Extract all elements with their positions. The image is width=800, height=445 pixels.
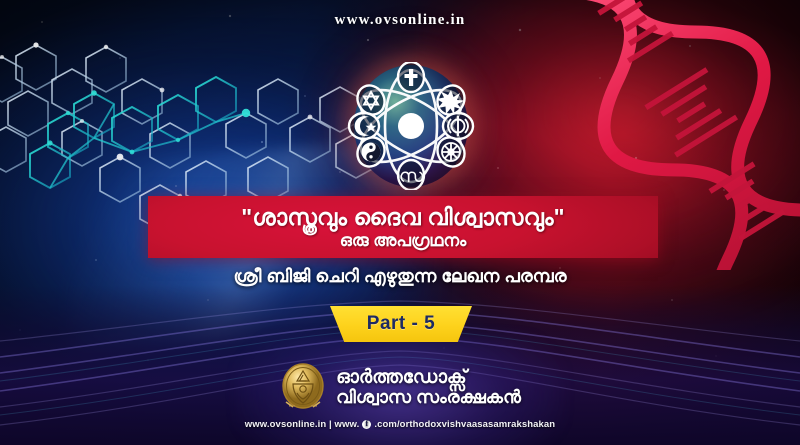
footer-links[interactable]: www.ovsonline.in | www. .com/orthodoxvis… [245, 419, 555, 430]
orthodox-seal-icon [279, 362, 327, 412]
dharma-wheel-icon [442, 143, 460, 161]
om-icon: സ [399, 165, 424, 187]
logo-block: ഓർത്തഡോക്സ് വിശ്വാസ സംരക്ഷകൻ www.ovsonli… [0, 362, 800, 430]
svg-text:സ: സ [399, 165, 424, 187]
title-subtitle: ഒരു അപഗ്രഥനം [340, 232, 467, 250]
author-series-line: ശ്രീ ബിജി ചെറി എഴുതുന്ന ലേഖന പരമ്പര [0, 266, 800, 287]
footer-prefix: www.ovsonline.in | www. [245, 419, 360, 430]
logo-line-1: ഓർത്തഡോക്സ് [336, 368, 521, 388]
logo-line-2: വിശ്വാസ സംരക്ഷകൻ [336, 388, 521, 407]
atom-coexist-globe-icon: സ [347, 62, 475, 190]
part-number-label: Part - 5 [367, 313, 435, 335]
part-number-badge: Part - 5 [330, 306, 472, 342]
facebook-icon [362, 420, 371, 429]
promotional-banner: www.ovsonline.in [0, 0, 800, 445]
yin-yang-icon [362, 143, 381, 162]
top-website-url: www.ovsonline.in [0, 12, 800, 29]
logo-text: ഓർത്തഡോക്സ് വിശ്വാസ സംരക്ഷകൻ [336, 368, 521, 406]
footer-suffix: .com/orthodoxvishvaasasamrakshakan [374, 419, 555, 430]
title-band: "ശാസ്ത്രവും ദൈവ വിശ്വാസവും" ഒരു അപഗ്രഥനം [148, 196, 658, 258]
sikh-khanda-icon [448, 116, 468, 136]
title-main: "ശാസ്ത്രവും ദൈവ വിശ്വാസവും" [241, 205, 565, 229]
logo-row: ഓർത്തഡോക്സ് വിശ്വാസ സംരക്ഷകൻ [279, 362, 521, 412]
